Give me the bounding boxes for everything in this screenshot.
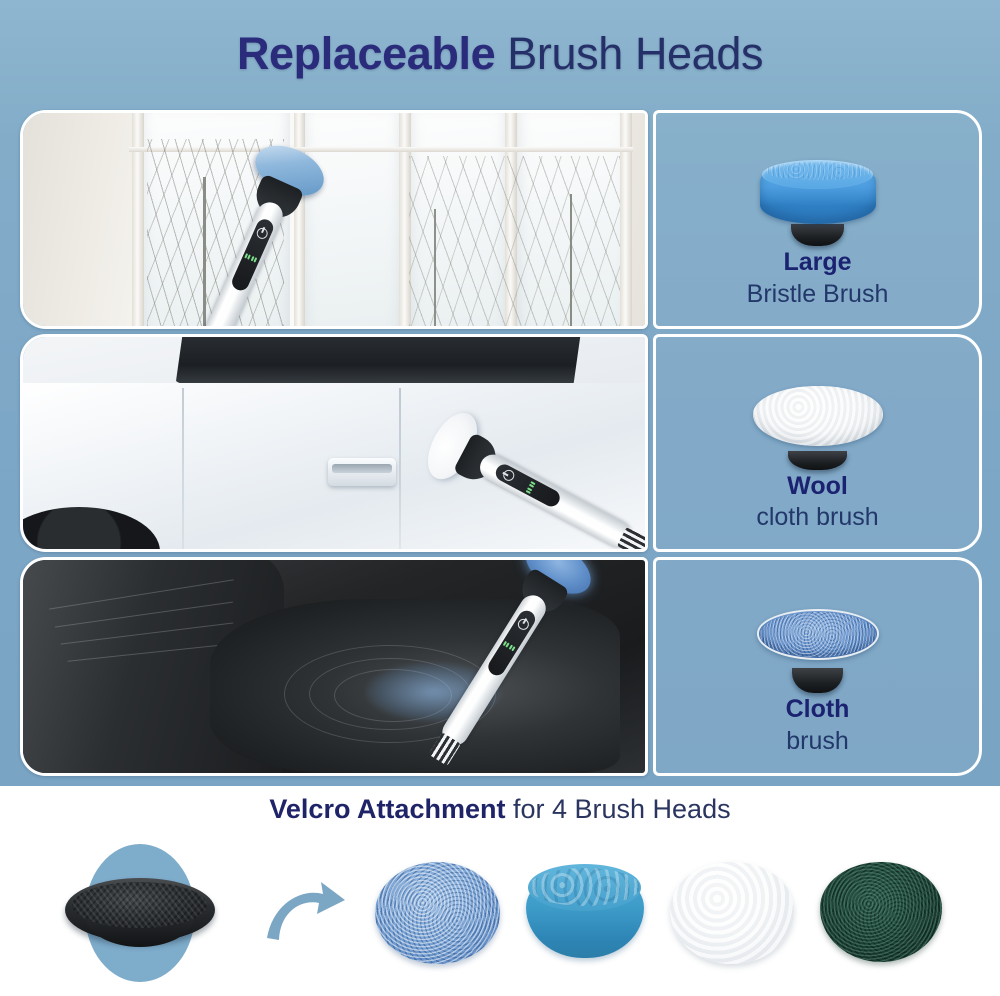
photo-card-car-door — [20, 334, 648, 553]
page-title-regular: Brush Heads — [495, 28, 763, 79]
info-card-cloth-brush: Cloth brush — [653, 557, 982, 776]
row-label-bold: Wool — [787, 472, 848, 501]
infographic-page: Replaceable Brush Heads — [0, 0, 1000, 996]
pad-illustration-wrap — [760, 130, 876, 246]
blue-panel: Replaceable Brush Heads — [0, 0, 1000, 786]
photo-card-car-seat — [20, 557, 648, 776]
velcro-caption-regular: for 4 Brush Heads — [505, 794, 730, 824]
feature-row: Large Bristle Brush — [20, 110, 982, 329]
info-card-large-bristle: Large Bristle Brush — [653, 110, 982, 329]
pad-illustration-wrap — [757, 577, 879, 693]
blue-foam-pad-icon — [760, 160, 876, 246]
velcro-caption-bold: Velcro Attachment — [269, 794, 505, 824]
scene-car-door — [23, 337, 645, 550]
feature-row: Wool cloth brush — [20, 334, 982, 553]
feature-row: Cloth brush — [20, 557, 982, 776]
velcro-backing-plate-icon — [59, 840, 237, 986]
feature-rows: Large Bristle Brush — [20, 110, 982, 776]
pad-illustration-wrap — [753, 354, 883, 470]
page-title-bold: Replaceable — [237, 28, 495, 79]
white-wool-pad-icon — [753, 386, 883, 470]
teal-foam-pad-icon — [526, 854, 644, 972]
curved-arrow-right-icon — [263, 878, 349, 948]
velcro-section: Velcro Attachment for 4 Brush Heads — [0, 786, 1000, 996]
row-label-regular: cloth brush — [756, 502, 878, 532]
row-label-bold: Cloth — [786, 695, 850, 724]
title-bar: Replaceable Brush Heads — [0, 0, 1000, 108]
row-label-regular: brush — [786, 726, 849, 756]
blue-microfiber-pad-icon — [375, 854, 500, 972]
blue-microfiber-pad-icon — [757, 609, 879, 693]
row-label-bold: Large — [783, 248, 851, 277]
photo-card-window — [20, 110, 648, 329]
brush-head-strip — [0, 838, 1000, 988]
scene-car-seat — [23, 560, 645, 773]
green-scouring-pad-icon — [820, 854, 942, 972]
white-wool-pad-icon — [670, 854, 794, 972]
scene-window — [23, 113, 645, 326]
velcro-caption: Velcro Attachment for 4 Brush Heads — [0, 794, 1000, 825]
info-card-wool-cloth: Wool cloth brush — [653, 334, 982, 553]
row-label-regular: Bristle Brush — [747, 279, 889, 309]
page-title: Replaceable Brush Heads — [237, 28, 763, 80]
